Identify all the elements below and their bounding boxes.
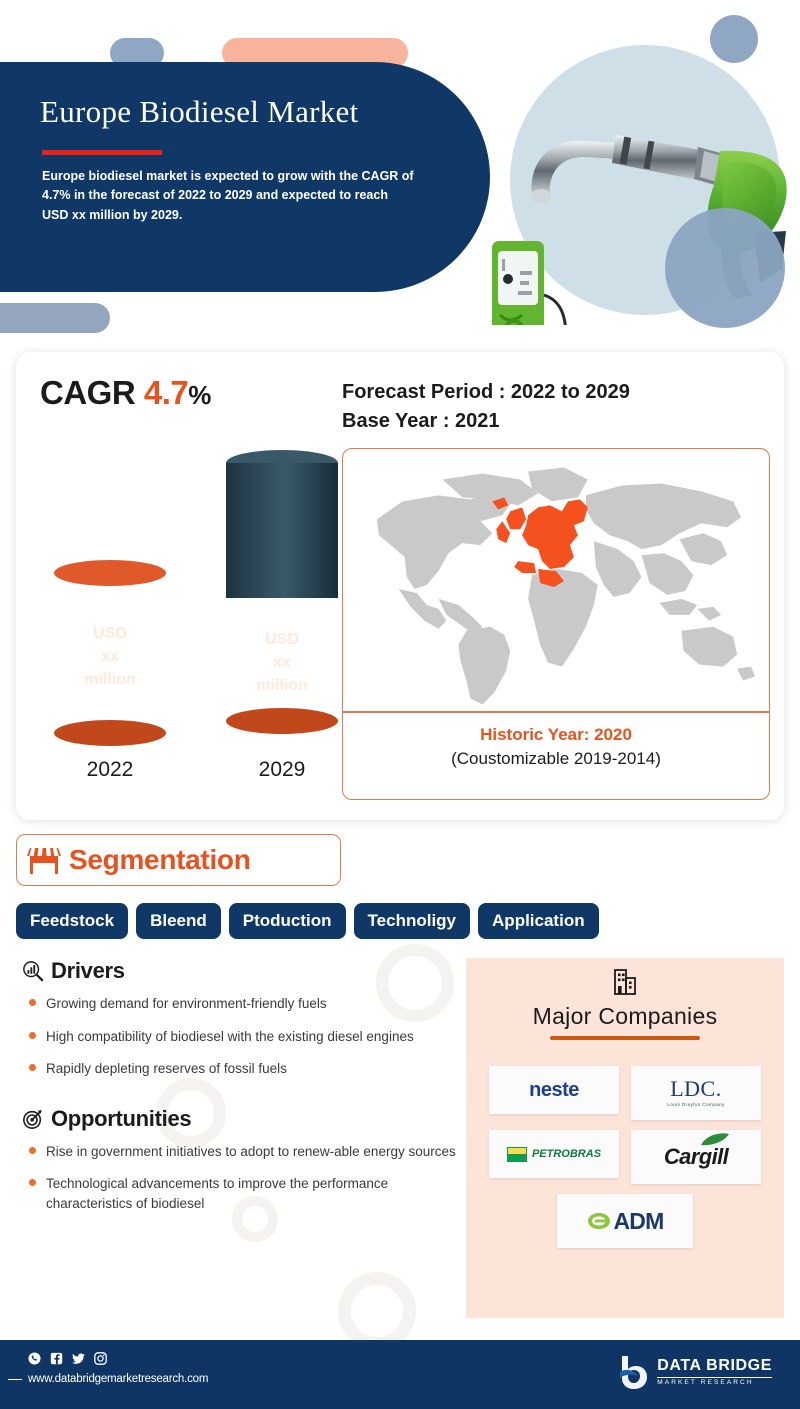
bar-2029-category: 2029 bbox=[212, 758, 352, 782]
drivers-list-item: Rapidly depleting reserves of fossil fue… bbox=[22, 1059, 462, 1079]
section-spacer bbox=[22, 1092, 462, 1106]
map-panel-divider bbox=[343, 711, 769, 713]
twitter-icon[interactable] bbox=[72, 1352, 85, 1365]
neste-logo-text: neste bbox=[529, 1079, 579, 1102]
adm-mark-icon bbox=[587, 1212, 611, 1230]
drivers-list-item: Growing demand for environment-friendly … bbox=[22, 994, 462, 1014]
historic-customizable: (Coustomizable 2019-2014) bbox=[343, 749, 769, 769]
segmentation-tab-feedstock[interactable]: Feedstock bbox=[16, 903, 128, 939]
watermark-ring-4 bbox=[338, 1272, 416, 1350]
segmentation-tab-technoligy[interactable]: Technoligy bbox=[354, 903, 470, 939]
cargill-leaf-icon bbox=[700, 1133, 730, 1146]
opportunities-list-item: Technological advancements to improve th… bbox=[22, 1174, 462, 1213]
segmentation-tab-application[interactable]: Application bbox=[478, 903, 599, 939]
building-icon bbox=[613, 968, 637, 996]
map-base-landmass bbox=[377, 468, 755, 705]
target-icon bbox=[22, 1108, 44, 1130]
title-underline bbox=[42, 150, 162, 155]
ldc-logo-subtext: Louis Dreyfus Company bbox=[667, 1103, 724, 1108]
cylinder-2029: USD xx million bbox=[226, 450, 338, 746]
historic-year: Historic Year: 2020 bbox=[343, 725, 769, 745]
brand-logo: DATA BRIDGE MARKET RESEARCH bbox=[618, 1354, 772, 1390]
world-map bbox=[343, 449, 769, 711]
bar-2022-category: 2022 bbox=[40, 758, 180, 782]
footer-url-dash bbox=[8, 1379, 22, 1380]
shop-icon bbox=[27, 844, 61, 876]
footer: www.databridgemarketresearch.com DATA BR… bbox=[0, 1340, 800, 1409]
drivers-list-item: High compatibility of biodiesel with the… bbox=[22, 1027, 462, 1047]
base-year: Base Year : 2021 bbox=[342, 407, 630, 436]
page-title: Europe Biodiesel Market bbox=[40, 94, 359, 130]
adm-logo-text: ADM bbox=[614, 1208, 664, 1235]
insights-column: Drivers Growing demand for environment-f… bbox=[22, 958, 462, 1226]
bar-2029: USD xx million 2029 bbox=[212, 450, 352, 805]
drivers-list: Growing demand for environment-friendly … bbox=[22, 994, 462, 1079]
cylinder-2029-body-teal bbox=[226, 463, 338, 598]
brand-text: DATA BRIDGE MARKET RESEARCH bbox=[657, 1358, 772, 1387]
segmentation-header: Segmentation bbox=[16, 834, 341, 886]
bar-2029-value-label: USD xx million bbox=[226, 628, 338, 698]
petrobras-logo-text: PETROBRAS bbox=[532, 1148, 601, 1160]
cargill-logo-text: Cargill bbox=[664, 1144, 728, 1169]
company-logo-petrobras: PETROBRAS bbox=[489, 1130, 619, 1178]
footer-social-links[interactable] bbox=[28, 1352, 107, 1365]
cagr-value: 4.7 bbox=[144, 374, 188, 411]
header-banner: Europe Biodiesel Market Europe biodiesel… bbox=[0, 62, 490, 292]
facebook-icon[interactable] bbox=[50, 1352, 63, 1365]
brand-name: DATA BRIDGE bbox=[657, 1358, 772, 1374]
hero-accent-circle-medium bbox=[665, 208, 785, 328]
drivers-header: Drivers bbox=[22, 958, 462, 984]
footer-url[interactable]: www.databridgemarketresearch.com bbox=[28, 1373, 208, 1385]
company-logo-cargill: Cargill bbox=[631, 1130, 761, 1184]
forecast-period: Forecast Period : 2022 to 2029 bbox=[342, 378, 630, 407]
segmentation-tab-ptoduction[interactable]: Ptoduction bbox=[229, 903, 346, 939]
decor-pill-gray bbox=[0, 303, 110, 333]
ldc-logo-text: LDC. bbox=[667, 1078, 724, 1100]
whatsapp-icon[interactable] bbox=[28, 1352, 41, 1365]
segmentation-title: Segmentation bbox=[69, 844, 251, 876]
petrobras-mark-icon bbox=[507, 1147, 527, 1162]
building-icon-wrap bbox=[466, 968, 784, 1001]
major-companies-panel: Major Companies neste LDC. Louis Dreyfus… bbox=[466, 958, 784, 1318]
bar-2022-value-label: USD xx million bbox=[54, 622, 166, 692]
cagr-percent-sign: % bbox=[188, 380, 211, 410]
cylinder-2029-bottom bbox=[226, 708, 338, 734]
opportunities-list-item: Rise in government initiatives to adopt … bbox=[22, 1142, 462, 1162]
summary-card: CAGR 4.7% Forecast Period : 2022 to 2029… bbox=[16, 352, 784, 820]
opportunities-list: Rise in government initiatives to adopt … bbox=[22, 1142, 462, 1214]
chart-magnifier-icon bbox=[22, 960, 44, 982]
cylinder-2022: USD xx million bbox=[54, 560, 166, 746]
major-companies-title: Major Companies bbox=[466, 1003, 784, 1030]
company-logo-grid: neste LDC. Louis Dreyfus Company PETROBR… bbox=[466, 1040, 784, 1248]
cylinder-2022-bottom bbox=[54, 720, 166, 746]
header-description: Europe biodiesel market is expected to g… bbox=[42, 167, 417, 225]
company-logo-neste: neste bbox=[489, 1066, 619, 1114]
forecast-block: Forecast Period : 2022 to 2029 Base Year… bbox=[342, 378, 630, 436]
drivers-title: Drivers bbox=[51, 958, 125, 984]
region-map-panel: Historic Year: 2020 (Coustomizable 2019-… bbox=[342, 448, 770, 800]
data-bridge-mark-icon bbox=[618, 1354, 648, 1390]
company-logo-adm: ADM bbox=[557, 1194, 693, 1248]
opportunities-title: Opportunities bbox=[51, 1106, 191, 1132]
company-logo-ldc: LDC. Louis Dreyfus Company bbox=[631, 1066, 761, 1120]
instagram-icon[interactable] bbox=[94, 1352, 107, 1365]
brand-subtitle: MARKET RESEARCH bbox=[657, 1377, 772, 1387]
segmentation-tab-bleend[interactable]: Bleend bbox=[136, 903, 221, 939]
opportunities-header: Opportunities bbox=[22, 1106, 462, 1132]
cagr-heading: CAGR 4.7% bbox=[40, 374, 211, 412]
cagr-label-text: CAGR bbox=[40, 374, 135, 411]
segmentation-tabs[interactable]: Feedstock Bleend Ptoduction Technoligy A… bbox=[16, 903, 784, 939]
bar-2022: USD xx million 2022 bbox=[40, 560, 180, 805]
